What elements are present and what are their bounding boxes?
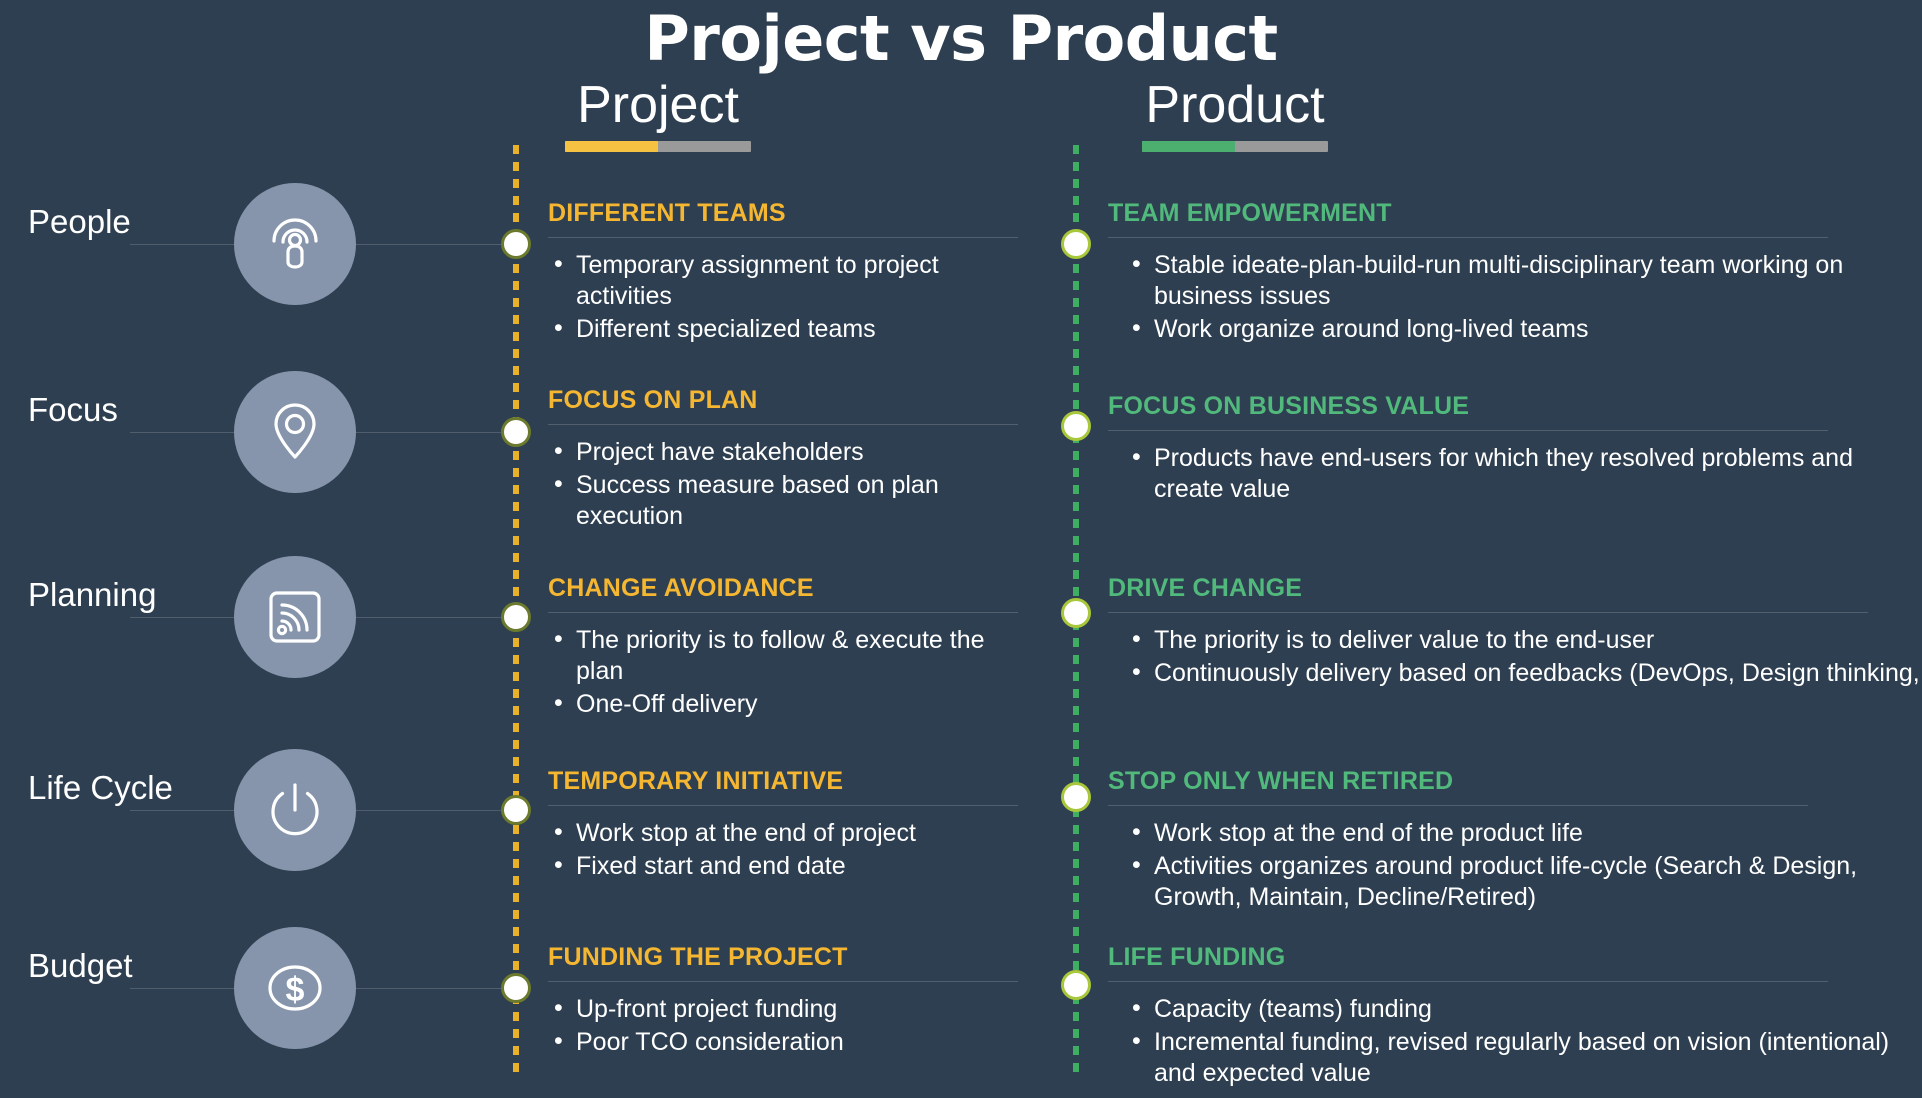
list-item: Activities organizes around product life… [1126, 851, 1898, 914]
divider [548, 805, 1018, 806]
column-underline-fill-product [1142, 141, 1235, 152]
project-heading-focus: FOCUS ON PLAN [548, 387, 1018, 415]
timeline-dot-product-planning [1061, 598, 1091, 628]
project-bullets-planning: The priority is to follow & execute the … [548, 625, 1018, 721]
timeline-dot-project-people [501, 229, 531, 259]
project-heading-people: DIFFERENT TEAMS [548, 200, 1018, 228]
timeline-dot-project-focus [501, 417, 531, 447]
column-header-product-label: Product [1085, 78, 1385, 133]
project-heading-planning: CHANGE AVOIDANCE [548, 575, 1018, 603]
timeline-dot-product-focus [1061, 411, 1091, 441]
product-bullets-focus: Products have end-users for which they r… [1108, 443, 1908, 506]
divider [1108, 981, 1828, 982]
rail-row-focus: Focus [0, 432, 520, 434]
list-item: The priority is to deliver value to the … [1126, 625, 1922, 656]
list-item: Work organize around long-lived teams [1126, 314, 1908, 345]
rail-row-budget: Budget $ [0, 988, 520, 990]
rail-row-people: People [0, 244, 520, 246]
list-item: Poor TCO consideration [548, 1027, 1018, 1058]
divider [1108, 805, 1808, 806]
product-bullets-life-cycle: Work stop at the end of the product life… [1108, 818, 1898, 914]
project-bullets-focus: Project have stakeholders Success measur… [548, 437, 1018, 533]
row-label-budget: Budget [28, 947, 133, 985]
column-header-project: Project [508, 78, 808, 152]
column-header-product: Product [1085, 78, 1385, 152]
product-heading-planning: DRIVE CHANGE [1108, 575, 1922, 603]
timeline-dot-project-planning [501, 602, 531, 632]
divider [1108, 430, 1828, 431]
row-label-planning: Planning [28, 576, 156, 614]
list-item: Work stop at the end of project [548, 818, 1018, 849]
product-heading-life-cycle: STOP ONLY WHEN RETIRED [1108, 768, 1898, 796]
list-item: Continuously delivery based on feedbacks… [1126, 658, 1922, 689]
product-heading-focus: FOCUS ON BUSINESS VALUE [1108, 393, 1908, 421]
project-block-budget: FUNDING THE PROJECT Up-front project fun… [548, 944, 1018, 1060]
divider [548, 981, 1018, 982]
project-block-planning: CHANGE AVOIDANCE The priority is to foll… [548, 575, 1018, 722]
list-item: Temporary assignment to project activiti… [548, 250, 1018, 313]
product-heading-people: TEAM EMPOWERMENT [1108, 200, 1908, 228]
product-bullets-budget: Capacity (teams) funding Incremental fun… [1108, 994, 1898, 1090]
product-heading-budget: LIFE FUNDING [1108, 944, 1898, 972]
rail-row-planning: Planning [0, 617, 520, 619]
svg-text:$: $ [286, 971, 305, 1009]
list-item: Success measure based on plan execution [548, 470, 1018, 533]
list-item: Capacity (teams) funding [1126, 994, 1898, 1025]
product-block-people: TEAM EMPOWERMENT Stable ideate-plan-buil… [1108, 200, 1908, 347]
project-block-people: DIFFERENT TEAMS Temporary assignment to … [548, 200, 1018, 347]
timeline-dot-product-budget [1061, 970, 1091, 1000]
product-bullets-planning: The priority is to deliver value to the … [1108, 625, 1922, 690]
project-block-life-cycle: TEMPORARY INITIATIVE Work stop at the en… [548, 768, 1018, 884]
map-pin-icon [234, 371, 356, 493]
project-bullets-people: Temporary assignment to project activiti… [548, 250, 1018, 346]
column-underline-fill-project [565, 141, 658, 152]
list-item: Work stop at the end of the product life [1126, 818, 1898, 849]
product-bullets-people: Stable ideate-plan-build-run multi-disci… [1108, 250, 1908, 346]
wifi-signal-icon [234, 556, 356, 678]
list-item: Different specialized teams [548, 314, 1018, 345]
timeline-dot-project-life-cycle [501, 795, 531, 825]
list-item: The priority is to follow & execute the … [548, 625, 1018, 688]
product-block-focus: FOCUS ON BUSINESS VALUE Products have en… [1108, 393, 1908, 507]
row-label-people: People [28, 203, 131, 241]
dollar-coin-icon: $ [234, 927, 356, 1049]
infographic-slide: Project vs Product Project Product Peopl… [0, 0, 1922, 1098]
power-button-icon [234, 749, 356, 871]
list-item: Project have stakeholders [548, 437, 1018, 468]
project-bullets-budget: Up-front project funding Poor TCO consid… [548, 994, 1018, 1059]
timeline-dot-project-budget [501, 973, 531, 1003]
list-item: Incremental funding, revised regularly b… [1126, 1027, 1898, 1090]
broadcast-person-icon [234, 183, 356, 305]
divider [548, 424, 1018, 425]
project-block-focus: FOCUS ON PLAN Project have stakeholders … [548, 387, 1018, 534]
column-header-project-label: Project [508, 78, 808, 133]
project-heading-budget: FUNDING THE PROJECT [548, 944, 1018, 972]
divider [548, 237, 1018, 238]
divider [1108, 612, 1868, 613]
product-block-budget: LIFE FUNDING Capacity (teams) funding In… [1108, 944, 1898, 1091]
divider [1108, 237, 1828, 238]
row-label-focus: Focus [28, 391, 118, 429]
project-heading-life-cycle: TEMPORARY INITIATIVE [548, 768, 1018, 796]
timeline-dot-product-people [1061, 229, 1091, 259]
list-item: Products have end-users for which they r… [1126, 443, 1908, 506]
timeline-dot-product-life-cycle [1061, 782, 1091, 812]
list-item: Stable ideate-plan-build-run multi-disci… [1126, 250, 1908, 313]
project-bullets-life-cycle: Work stop at the end of project Fixed st… [548, 818, 1018, 883]
page-title: Project vs Product [0, 2, 1922, 75]
column-underline-bar-product [1142, 141, 1328, 152]
list-item: One-Off delivery [548, 689, 1018, 720]
product-block-life-cycle: STOP ONLY WHEN RETIRED Work stop at the … [1108, 768, 1898, 915]
list-item: Up-front project funding [548, 994, 1018, 1025]
row-label-life-cycle: Life Cycle [28, 769, 173, 807]
divider [548, 612, 1018, 613]
list-item: Fixed start and end date [548, 851, 1018, 882]
rail-row-life-cycle: Life Cycle [0, 810, 520, 812]
column-underline-bar-project [565, 141, 751, 152]
product-block-planning: DRIVE CHANGE The priority is to deliver … [1108, 575, 1922, 691]
